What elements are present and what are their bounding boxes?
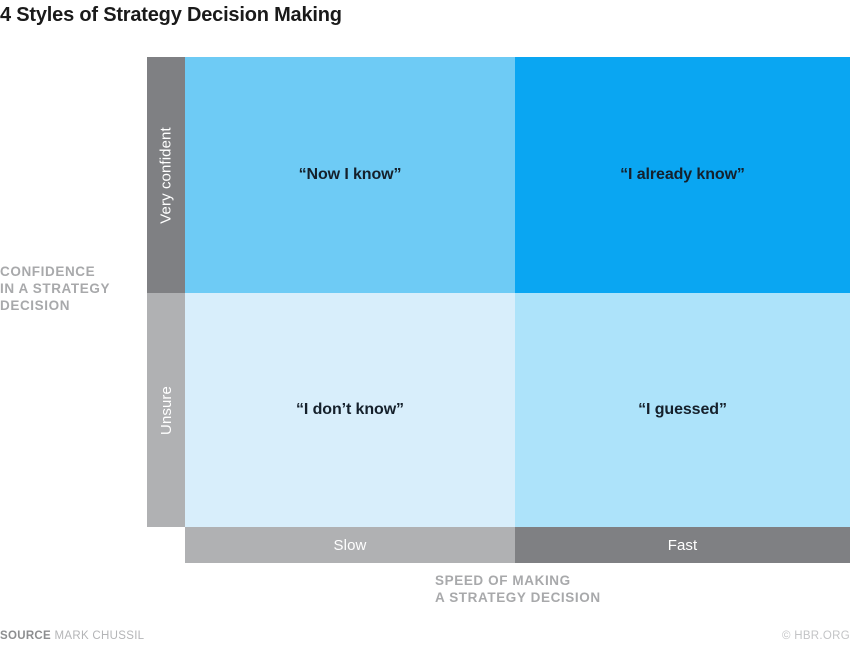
x-axis-band-slow: Slow (185, 527, 515, 563)
quadrant-now-i-know: “Now I know” (185, 57, 515, 293)
quadrant-label-i-guessed: “I guessed” (638, 401, 727, 419)
y-axis-band-label-unsure: Unsure (158, 386, 175, 435)
footer-source: SOURCE MARK CHUSSIL (0, 630, 144, 642)
quadrant-i-already-know: “I already know” (515, 57, 850, 293)
y-axis-title-line-2: IN A STRATEGY (0, 280, 140, 297)
y-axis-title-line-1: CONFIDENCE (0, 263, 140, 280)
y-axis-band-strip: Very confident Unsure (147, 57, 185, 527)
x-axis-title-line-1: SPEED OF MAKING (435, 572, 735, 589)
quadrant-label-i-already-know: “I already know” (620, 166, 745, 184)
x-axis-title-line-2: A STRATEGY DECISION (435, 589, 735, 606)
quadrant-label-now-i-know: “Now I know” (299, 166, 402, 184)
plot-area: “Now I know” “I already know” “I don’t k… (185, 57, 850, 527)
y-axis-band-unsure: Unsure (147, 293, 185, 527)
x-axis-band-strip: Slow Fast (185, 527, 850, 563)
page-title: 4 Styles of Strategy Decision Making (0, 2, 342, 28)
x-axis-band-label-fast: Fast (668, 537, 698, 554)
footer-source-value: MARK CHUSSIL (55, 630, 145, 642)
x-axis-band-fast: Fast (515, 527, 850, 563)
x-axis-title: SPEED OF MAKING A STRATEGY DECISION (435, 572, 735, 606)
quadrant-matrix: Very confident Unsure “Now I know” “I al… (147, 57, 850, 527)
y-axis-title: CONFIDENCE IN A STRATEGY DECISION (0, 263, 140, 314)
y-axis-band-label-very-confident: Very confident (158, 127, 175, 223)
y-axis-title-line-3: DECISION (0, 297, 140, 314)
quadrant-label-i-dont-know: “I don’t know” (296, 401, 404, 419)
footer: SOURCE MARK CHUSSIL © HBR.ORG (0, 630, 850, 647)
y-axis-band-very-confident: Very confident (147, 57, 185, 293)
x-axis-band-label-slow: Slow (334, 537, 367, 554)
quadrant-i-dont-know: “I don’t know” (185, 293, 515, 527)
footer-source-label: SOURCE (0, 630, 51, 642)
quadrant-i-guessed: “I guessed” (515, 293, 850, 527)
footer-credit: © HBR.ORG (782, 630, 850, 642)
